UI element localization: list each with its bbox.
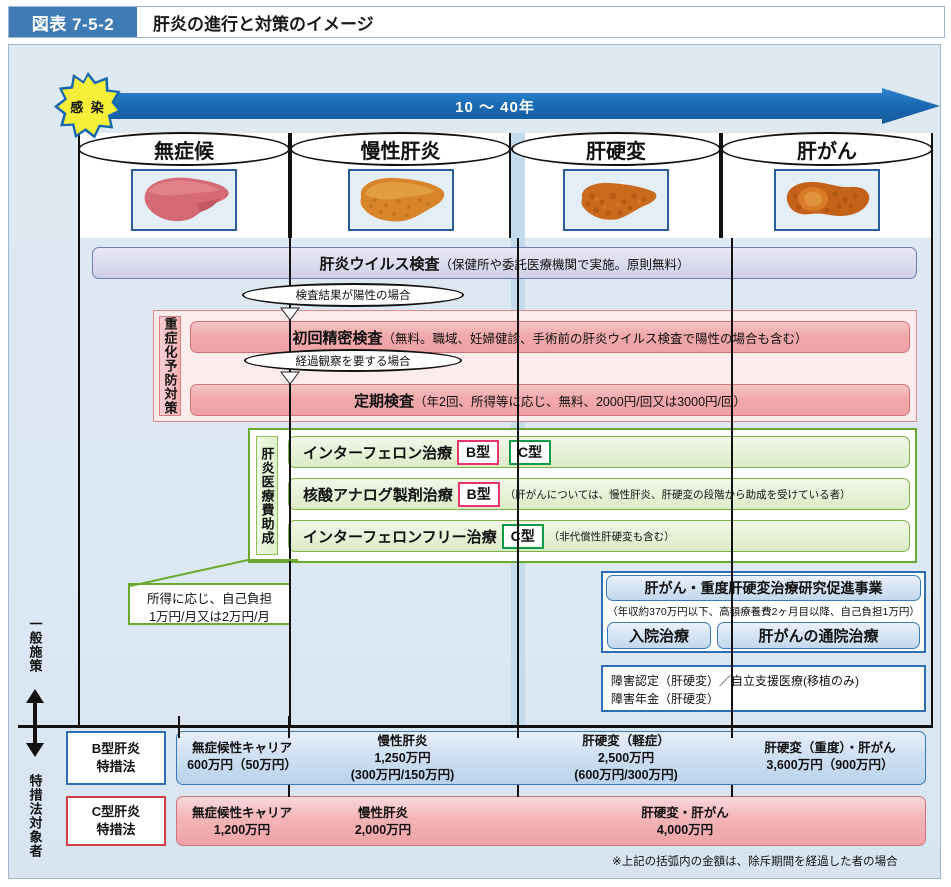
callout-line-2: 1万円/月又は2万円/月 [138, 608, 281, 626]
section-separator [18, 725, 933, 728]
duration-label: 10 〜 40年 [455, 96, 535, 117]
cirrhosis-liver-image [563, 169, 669, 231]
law-label-hepatitis-c: C型肝炎 特措法 [66, 796, 166, 846]
interferon-free-note: （非代償性肝硬変も含む） [549, 529, 675, 544]
column-line-left [78, 238, 80, 725]
infection-label: 感 染 [70, 97, 106, 116]
interferon-free-row: インターフェロンフリー治療 C型 （非代償性肝硬変も含む） [288, 520, 910, 552]
figure-title-bar: 図表 7-5-2 肝炎の進行と対策のイメージ [8, 6, 945, 38]
chip-type-b-nucleoside: B型 [458, 482, 500, 507]
law-c-cell-3: 肝硬変・肝がん 4,000万円 [590, 805, 780, 839]
disability-line-1: 障害認定（肝硬変）／自立支援医療(移植のみ) [611, 672, 916, 690]
law-c-cell-3-amount: 4,000万円 [590, 822, 780, 839]
virus-test-bar: 肝炎ウイルス検査 （保健所や委託医療機関で実施。原則無料） [92, 247, 917, 279]
stage-label-3: 肝硬変 [511, 132, 721, 166]
research-project-title-bar: 肝がん・重度肝硬変治療研究促進事業 [606, 575, 921, 601]
law-b-cell-4-name: 肝硬変（重度）・肝がん [738, 740, 922, 757]
callout-line-1: 所得に応じ、自己負担 [138, 590, 281, 608]
table-tick-6 [517, 785, 519, 797]
healthy-liver-image [131, 169, 237, 231]
column-line-right [931, 238, 933, 725]
law-c-cell-1-amount: 1,200万円 [180, 822, 304, 839]
virus-test-note: （保健所や委託医療機関で実施。原則無料） [440, 254, 690, 273]
callout-leader-line [130, 558, 300, 590]
law-label-b-text: B型肝炎 特措法 [92, 740, 140, 776]
prevention-side-label: 重症化予防対策 [159, 316, 181, 416]
table-tick-4 [731, 716, 733, 738]
arrow-down-2 [280, 371, 300, 385]
law-b-cell-1: 無症候性キャリア 600万円（50万円） [180, 740, 304, 774]
law-b-cell-2-amount: 1,250万円 (300万円/150万円) [310, 750, 495, 784]
law-c-cell-3-name: 肝硬変・肝がん [590, 805, 780, 822]
figure-number: 図表 7-5-2 [9, 7, 137, 37]
research-project-note: （年収約370万円以下、高額療養費2ヶ月目以降、自己負担1万円） [607, 604, 920, 619]
table-tick-5 [288, 785, 290, 797]
nucleoside-analog-title: 核酸アナログ製剤治療 [303, 484, 453, 505]
periodic-exam-title: 定期検査 [354, 390, 414, 411]
research-project-note-row: （年収約370万円以下、高額療養費2ヶ月目以降、自己負担1万円） [606, 603, 921, 619]
condition-positive-result: 検査結果が陽性の場合 [242, 283, 464, 307]
subsidy-side-label: 肝炎医療費助成 [256, 436, 278, 555]
law-b-cell-3-amount: 2,500万円 (600万円/300万円) [530, 750, 722, 784]
periodic-exam-bar: 定期検査 （年2回、所得等に応じ、無料、2000円/回又は3000円/回） [190, 384, 910, 416]
law-label-hepatitis-b: B型肝炎 特措法 [66, 731, 166, 785]
initial-exam-note: （無料。職域、妊婦健診、手術前の肝炎ウイルス検査で陽性の場合も含む） [383, 328, 808, 347]
column-line-2 [517, 238, 519, 725]
law-b-cell-4: 肝硬変（重度）・肝がん 3,600万円（900万円） [738, 740, 922, 774]
research-project-title: 肝がん・重度肝硬変治療研究促進事業 [645, 578, 883, 598]
law-b-cell-1-name: 無症候性キャリア [180, 740, 304, 757]
page-title: 肝炎の進行と対策のイメージ [137, 7, 374, 37]
law-c-cell-2-amount: 2,000万円 [318, 822, 448, 839]
stage-label-1: 無症候 [78, 132, 290, 166]
table-tick-1 [178, 716, 180, 738]
interferon-free-title: インターフェロンフリー治療 [303, 526, 497, 547]
law-b-cell-3-name: 肝硬変（軽症） [530, 733, 722, 750]
arrow-down-1 [280, 307, 300, 321]
law-c-cell-1: 無症候性キャリア 1,200万円 [180, 805, 304, 839]
law-b-cell-2: 慢性肝炎 1,250万円 (300万円/150万円) [310, 733, 495, 784]
law-c-cell-2-name: 慢性肝炎 [318, 805, 448, 822]
stage-cylinders: 無症候 慢性肝炎 [78, 133, 933, 238]
nucleoside-analog-row: 核酸アナログ製剤治療 B型 （肝がんについては、慢性肝炎、肝硬変の段階から助成を… [288, 478, 910, 510]
law-b-cell-4-amount: 3,600万円（900万円） [738, 757, 922, 774]
law-b-cell-1-amount: 600万円（50万円） [180, 757, 304, 774]
table-tick-2 [288, 716, 290, 738]
interferon-treatment-row: インターフェロン治療 B型 C型 [288, 436, 910, 468]
stage-label-2: 慢性肝炎 [290, 132, 511, 166]
inpatient-treatment-button[interactable]: 入院治療 [607, 622, 711, 649]
axis-label-general-measures: 一般施策 [24, 610, 46, 680]
virus-test-title: 肝炎ウイルス検査 [319, 253, 439, 274]
table-footnote: ※上記の括弧内の金額は、除斥期間を経過した者の場合 [612, 853, 898, 869]
nucleoside-analog-note: （肝がんについては、慢性肝炎、肝硬変の段階から助成を受けている者） [505, 487, 851, 502]
chronic-hepatitis-liver-image [348, 169, 454, 231]
law-c-cell-1-name: 無症候性キャリア [180, 805, 304, 822]
periodic-exam-note: （年2回、所得等に応じ、無料、2000円/回又は3000円/回） [414, 391, 746, 410]
stage-label-4: 肝がん [721, 132, 933, 166]
initial-exam-title: 初回精密検査 [292, 327, 382, 348]
table-tick-7 [731, 785, 733, 797]
double-arrow-icon [24, 687, 46, 759]
interferon-treatment-title: インターフェロン治療 [303, 442, 452, 463]
chip-type-c-interferon: C型 [509, 440, 551, 465]
liver-cancer-image [774, 169, 880, 231]
initial-detailed-exam-bar: 初回精密検査 （無料。職域、妊婦健診、手術前の肝炎ウイルス検査で陽性の場合も含む… [190, 321, 910, 353]
chip-type-c-interferon-free: C型 [502, 524, 544, 549]
progression-arrow: 10 〜 40年 [100, 88, 940, 124]
column-line-3 [731, 238, 733, 725]
axis-label-special-measures-target: 特措法対象者 [24, 765, 46, 867]
law-label-c-text: C型肝炎 特措法 [92, 803, 140, 839]
condition-followup-needed: 経過観察を要する場合 [244, 349, 462, 372]
disability-certification-box: 障害認定（肝硬変）／自立支援医療(移植のみ) 障害年金（肝硬変） [601, 665, 926, 712]
outpatient-treatment-label: 肝がんの通院治療 [758, 625, 878, 646]
disability-line-2: 障害年金（肝硬変） [611, 690, 916, 708]
law-c-cell-2: 慢性肝炎 2,000万円 [318, 805, 448, 839]
law-b-cell-2-name: 慢性肝炎 [310, 733, 495, 750]
chip-type-b-interferon: B型 [457, 440, 499, 465]
law-b-cell-3: 肝硬変（軽症） 2,500万円 (600万円/300万円) [530, 733, 722, 784]
table-tick-3 [517, 716, 519, 738]
inpatient-treatment-label: 入院治療 [629, 625, 689, 646]
outpatient-treatment-button[interactable]: 肝がんの通院治療 [717, 622, 920, 649]
